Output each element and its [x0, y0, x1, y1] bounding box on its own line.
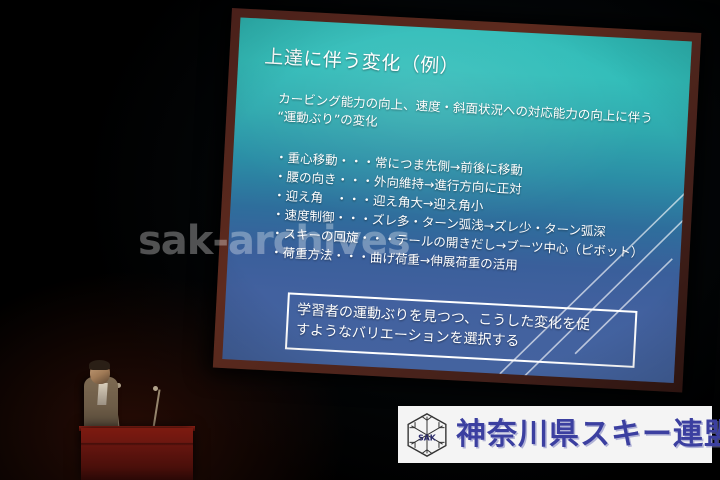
screenshot-stage: 上達に伴う変化（例） カービング能力の向上、速度・斜面状況への対応能力の向上に伴… — [0, 0, 720, 480]
organization-banner: SAK 神奈川県スキー連盟 — [398, 406, 712, 463]
screen-surface: 上達に伴う変化（例） カービング能力の向上、速度・斜面状況への対応能力の向上に伴… — [222, 17, 692, 383]
emblem-initials: SAK — [418, 433, 437, 442]
bullet-label: ・荷重方法 — [270, 242, 333, 264]
slide-callout-box: 学習者の運動ぶりを見つつ、こうした変化を促 すようなバリエーションを選択する — [285, 292, 638, 367]
speaker-shirt — [97, 383, 108, 405]
speaker-hair — [89, 360, 110, 370]
bullet-dots: ・・・ — [332, 246, 370, 267]
projection-screen: 上達に伴う変化（例） カービング能力の向上、速度・斜面状況への対応能力の向上に伴… — [213, 8, 701, 392]
slide-bullet-list: ・重心移動・・・常につま先側→前後に移動 ・腰の向き・・・外向維持→進行方向に正… — [270, 148, 648, 282]
presenter-area — [60, 355, 210, 480]
podium — [81, 428, 193, 480]
bullet-dots: ・・・ — [337, 151, 375, 172]
snowflake-emblem-icon: SAK — [404, 412, 450, 458]
organization-name: 神奈川県スキー連盟 — [456, 420, 720, 450]
bullet-dots: ・・・ — [336, 170, 374, 191]
slide-title: 上達に伴う変化（例） — [264, 42, 460, 79]
microphone-head-icon — [153, 386, 158, 391]
microphone-stand — [152, 389, 160, 431]
slide-content: 上達に伴う変化（例） カービング能力の向上、速度・斜面状況への対応能力の向上に伴… — [222, 17, 692, 383]
bullet-dots: ・・・ — [334, 208, 372, 229]
bullet-label: ・迎え角 — [273, 185, 324, 207]
bullet-dots: ・・・ — [358, 228, 396, 249]
slide-subtitle: カービング能力の向上、速度・斜面状況への対応能力の向上に伴う “運動ぶり”の変化 — [277, 90, 653, 146]
